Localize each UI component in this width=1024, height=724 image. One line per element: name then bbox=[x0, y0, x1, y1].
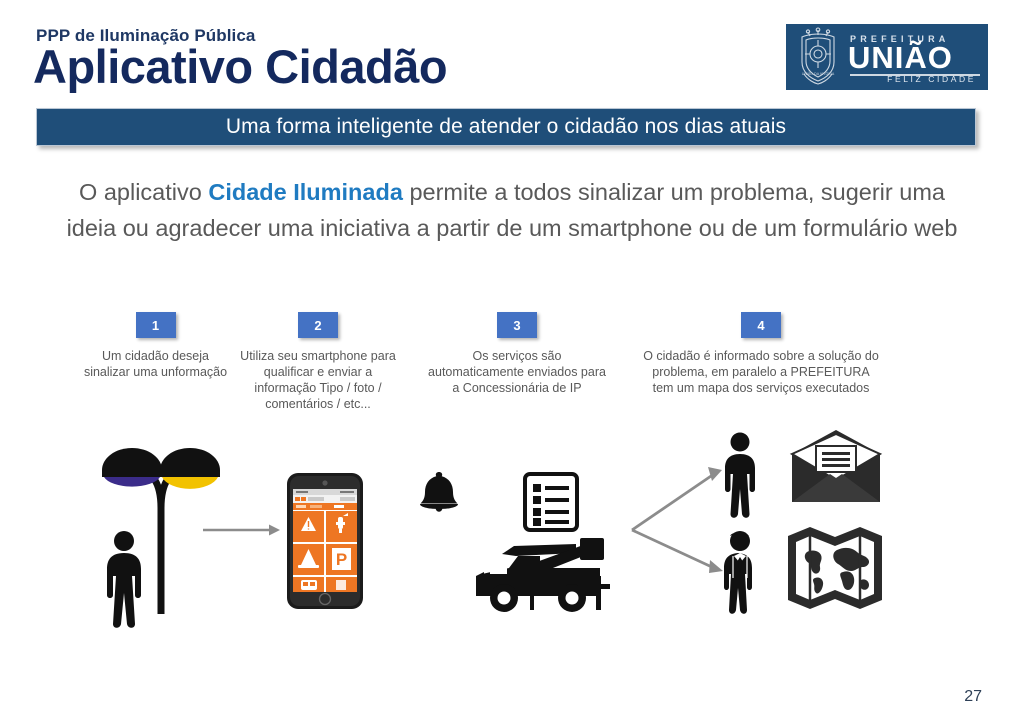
bell-icon bbox=[415, 470, 463, 516]
figure-official bbox=[716, 530, 764, 614]
bus-icon bbox=[301, 580, 317, 590]
pedestrian-icon bbox=[107, 531, 141, 628]
page-title: Aplicativo Cidadão bbox=[33, 42, 447, 91]
figure-bell bbox=[415, 470, 463, 516]
figure-smartphone: P bbox=[286, 472, 364, 610]
arrow-phone-to-truck bbox=[203, 520, 281, 540]
step-3-caption: Os serviços são automaticamente enviados… bbox=[424, 348, 610, 396]
lamp-left-glow bbox=[104, 477, 160, 487]
app-name-highlight: Cidade Iluminada bbox=[208, 179, 403, 205]
logo-city-name: UNIÃO bbox=[848, 42, 953, 73]
prefeitura-uniao-logo: UNIÃO DA VITÓRIA PREFEITURA UNIÃO FELIZ … bbox=[786, 24, 988, 90]
figure-citizen bbox=[718, 432, 762, 518]
intro-paragraph: O aplicativo Cidade Iluminada permite a … bbox=[52, 174, 972, 246]
figure-envelope bbox=[790, 432, 882, 504]
arrow-up-line bbox=[632, 474, 714, 530]
envelope-icon bbox=[790, 432, 882, 504]
lamp-right-glow bbox=[162, 477, 218, 489]
figure-map bbox=[785, 524, 885, 612]
step-1-badge: 1 bbox=[136, 312, 176, 338]
page-number: 27 bbox=[964, 688, 982, 706]
figure-checklist-form bbox=[522, 471, 580, 533]
step-3: 3 Os serviços são automaticamente enviad… bbox=[424, 312, 610, 396]
logo-tagline: FELIZ CIDADE bbox=[887, 74, 976, 84]
step-1-caption: Um cidadão deseja sinalizar uma unformaç… bbox=[78, 348, 233, 380]
subtitle-banner: Uma forma inteligente de atender o cidad… bbox=[36, 108, 976, 146]
step-4-badge: 4 bbox=[741, 312, 781, 338]
step-4: 4 O cidadão é informado sobre a solução … bbox=[643, 312, 879, 396]
official-icon bbox=[716, 530, 764, 614]
subtitle-banner-text: Uma forma inteligente de atender o cidad… bbox=[226, 115, 786, 139]
step-2-badge: 2 bbox=[298, 312, 338, 338]
step-2: 2 Utiliza seu smartphone para qualificar… bbox=[232, 312, 404, 412]
step-3-badge: 3 bbox=[497, 312, 537, 338]
coat-of-arms-icon: UNIÃO DA VITÓRIA bbox=[792, 28, 844, 86]
parking-icon: P bbox=[336, 550, 347, 569]
form-icon bbox=[522, 471, 580, 533]
step-4-caption: O cidadão é informado sobre a solução do… bbox=[643, 348, 879, 396]
step-2-caption: Utiliza seu smartphone para qualificar e… bbox=[232, 348, 404, 412]
misc-icon bbox=[336, 580, 346, 590]
intro-text-part1: O aplicativo bbox=[79, 179, 208, 205]
svg-text:UNIÃO DA VITÓRIA: UNIÃO DA VITÓRIA bbox=[802, 71, 835, 76]
figure-utility-truck bbox=[468, 528, 620, 616]
arrow-down-line bbox=[632, 530, 714, 568]
step-1: 1 Um cidadão deseja sinalizar uma unform… bbox=[78, 312, 233, 380]
map-icon bbox=[785, 524, 885, 612]
citizen-icon bbox=[718, 432, 762, 518]
truck-icon bbox=[468, 528, 620, 616]
